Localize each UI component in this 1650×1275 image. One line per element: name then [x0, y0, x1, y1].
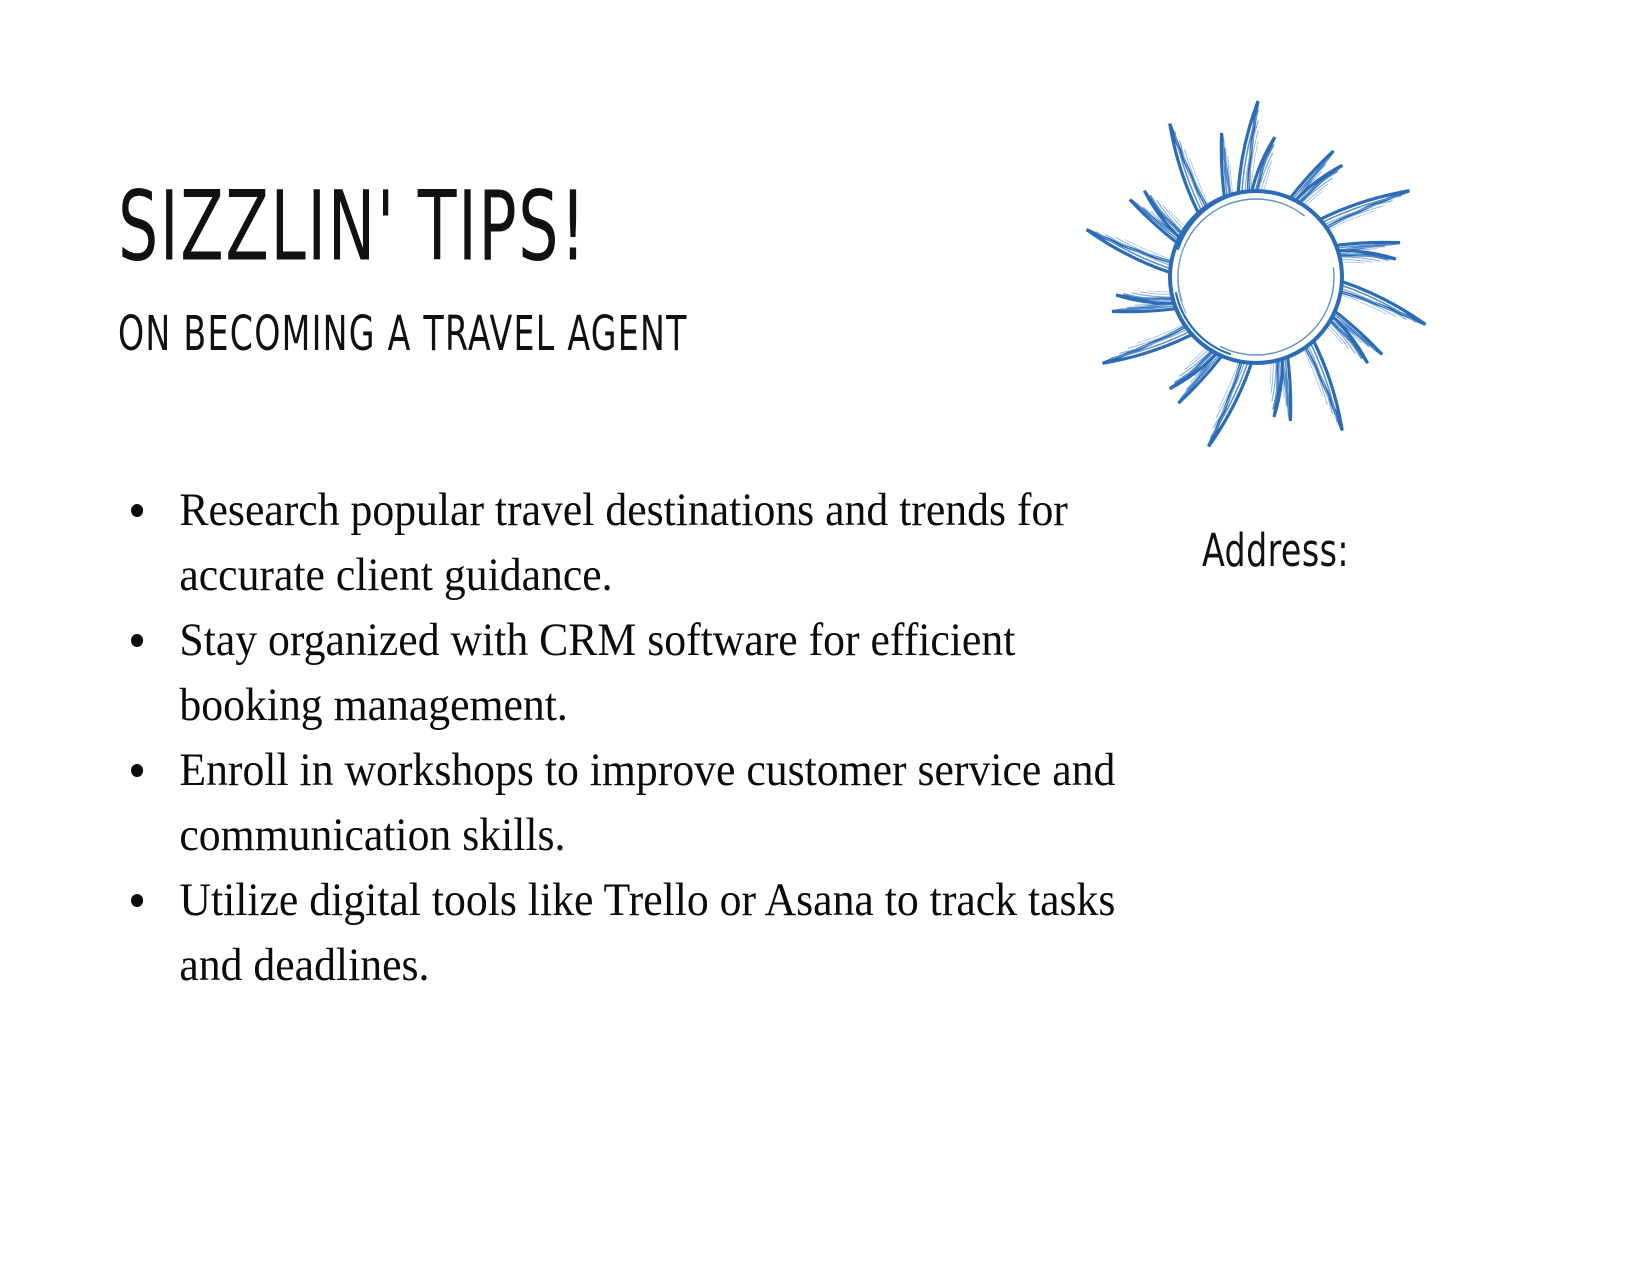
sun-icon — [1032, 18, 1532, 518]
list-item-text: Research popular travel destinations and… — [179, 484, 1067, 601]
poster-canvas: SIZZLIN' TIPS! ON BECOMING A TRAVEL AGEN… — [0, 0, 1650, 1275]
page-subtitle: ON BECOMING A TRAVEL AGENT — [118, 264, 874, 359]
bullet-icon — [131, 894, 143, 907]
list-item-text: Stay organized with CRM software for eff… — [179, 614, 1015, 731]
tips-list: Research popular travel destinations and… — [118, 478, 1198, 998]
list-item-text: Utilize digital tools like Trello or Asa… — [179, 874, 1115, 991]
bullet-icon — [131, 764, 143, 777]
sun-illustration — [1032, 18, 1532, 518]
page-title: SIZZLIN' TIPS! — [118, 182, 856, 273]
sun-disc — [1170, 191, 1342, 363]
bullet-icon — [131, 504, 143, 517]
list-item: Utilize digital tools like Trello or Asa… — [118, 868, 1122, 998]
list-item-text: Enroll in workshops to improve customer … — [179, 744, 1115, 861]
list-item: Enroll in workshops to improve customer … — [118, 738, 1122, 868]
headline-block: SIZZLIN' TIPS! ON BECOMING A TRAVEL AGEN… — [118, 182, 1018, 350]
bullet-icon — [131, 634, 143, 647]
list-item: Stay organized with CRM software for eff… — [118, 608, 1122, 738]
list-item: Research popular travel destinations and… — [118, 478, 1122, 608]
address-label: Address: — [1202, 528, 1349, 573]
